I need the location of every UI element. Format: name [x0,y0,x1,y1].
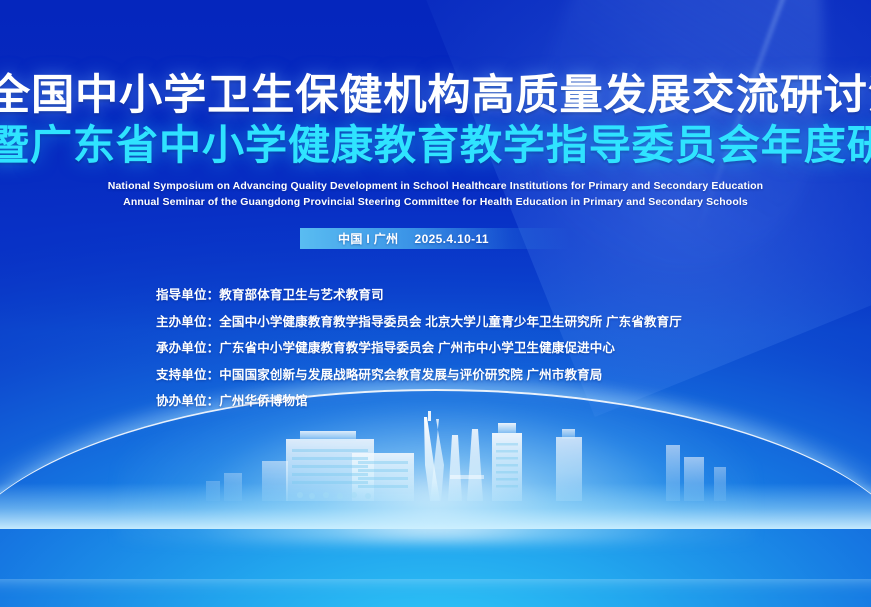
badge-date: 2025.4.10-11 [415,232,489,246]
title-line-2: 暨广东省中小学健康教育教学指导委员会年度研讨活动 [0,125,871,166]
organizer-label: 支持单位： [156,368,219,382]
organizer-row: 指导单位：教育部体育卫生与艺术教育司 [156,289,682,302]
organizer-label: 协办单位： [156,394,219,408]
organizer-label: 指导单位： [156,288,219,302]
organizer-value: 广东省中小学健康教育教学指导委员会 广州市中小学卫生健康促进中心 [219,341,615,355]
badge-location: 中国 I 广州 [338,230,399,247]
organizer-value: 全国中小学健康教育教学指导委员会 北京大学儿童青少年卫生研究所 广东省教育厅 [219,315,682,329]
title-line-1: 全国中小学卫生保健机构高质量发展交流研讨活动 [0,74,871,116]
subtitle-block: National Symposium on Advancing Quality … [0,178,871,211]
organizer-label: 主办单位： [156,315,219,329]
organizer-list: 指导单位：教育部体育卫生与艺术教育司 主办单位：全国中小学健康教育教学指导委员会… [156,289,682,408]
subtitle-line-1: National Symposium on Advancing Quality … [0,178,871,194]
organizer-row: 承办单位：广东省中小学健康教育教学指导委员会 广州市中小学卫生健康促进中心 [156,342,682,355]
organizer-row: 协办单位：广州华侨博物馆 [156,395,682,408]
organizer-row: 主办单位：全国中小学健康教育教学指导委员会 北京大学儿童青少年卫生研究所 广东省… [156,316,682,329]
title-block: 全国中小学卫生保健机构高质量发展交流研讨活动 暨广东省中小学健康教育教学指导委员… [0,74,871,166]
organizer-row: 支持单位：中国国家创新与发展战略研究会教育发展与评价研究院 广州市教育局 [156,369,682,382]
organizer-label: 承办单位： [156,341,219,355]
organizer-value: 广州华侨博物馆 [219,394,308,408]
location-date-badge: 中国 I 广州 2025.4.10-11 [300,228,570,249]
organizer-value: 中国国家创新与发展战略研究会教育发展与评价研究院 广州市教育局 [219,368,602,382]
conference-poster: 全国中小学卫生保健机构高质量发展交流研讨活动 暨广东省中小学健康教育教学指导委员… [0,0,871,607]
subtitle-line-2: Annual Seminar of the Guangdong Provinci… [0,194,871,210]
organizer-value: 教育部体育卫生与艺术教育司 [219,288,383,302]
